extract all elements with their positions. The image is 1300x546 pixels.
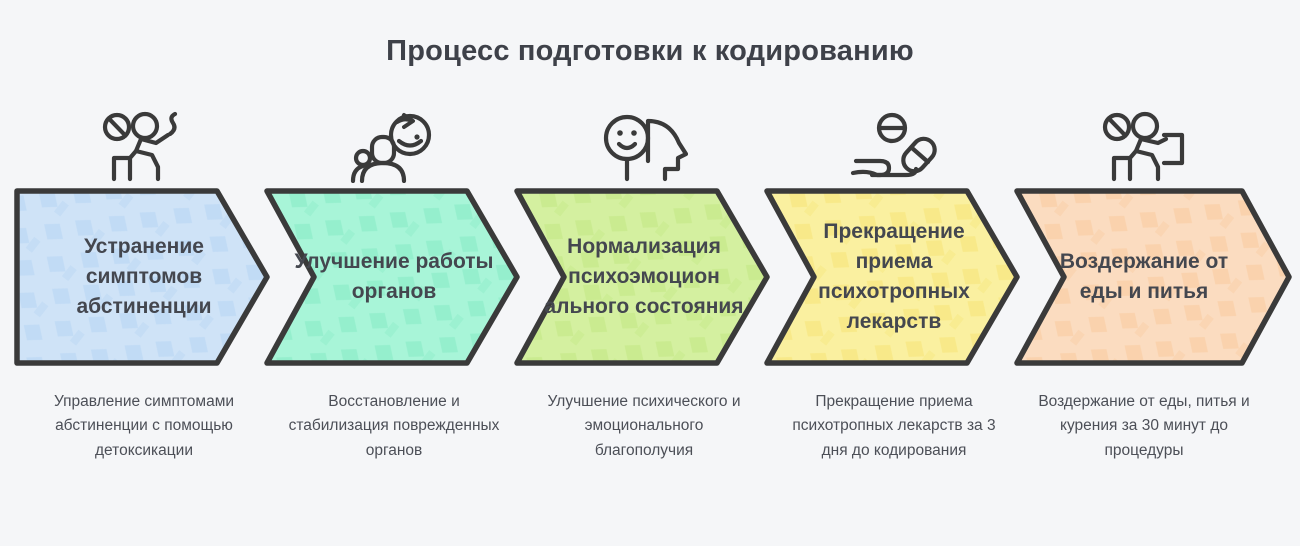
page-title: Процесс подготовки к кодированию xyxy=(0,35,1300,68)
process-step-3[interactable]: Нормализация психоэмоцион ального состоя… xyxy=(514,100,774,540)
step-caption-3: Улучшение психического и эмоционального … xyxy=(514,390,774,463)
head-smiley-mental-icon xyxy=(514,108,774,186)
chevron-shape-4 xyxy=(764,188,1049,366)
chevron-shape-2 xyxy=(264,188,549,366)
process-step-1[interactable]: Устранение симптомов абстиненции Управле… xyxy=(14,100,274,540)
step-caption-5: Воздержание от еды, питья и курения за 3… xyxy=(1014,390,1274,463)
no-smoking-person-icon xyxy=(14,108,274,186)
hand-with-pills-icon xyxy=(764,108,1024,186)
step-caption-1: Управление симптомами абстиненции с помо… xyxy=(14,390,274,463)
person-recovery-arrow-icon xyxy=(264,108,524,186)
process-step-4[interactable]: Прекращение приема психотропных лекарств… xyxy=(764,100,1024,540)
process-step-2[interactable]: Улучшение работы органов Восстановление … xyxy=(264,100,524,540)
step-caption-4: Прекращение приема психотропных лекарств… xyxy=(764,390,1024,463)
process-step-5[interactable]: Воздержание от еды и питья Воздержание о… xyxy=(1014,100,1274,540)
step-caption-2: Восстановление и стабилизация поврежденн… xyxy=(264,390,524,463)
no-eating-drinking-person-icon xyxy=(1014,108,1274,186)
chevron-shape-3 xyxy=(514,188,799,366)
process-steps-container: Устранение симптомов абстиненции Управле… xyxy=(0,100,1300,540)
chevron-shape-5 xyxy=(1014,188,1299,366)
chevron-shape-1 xyxy=(14,188,299,366)
